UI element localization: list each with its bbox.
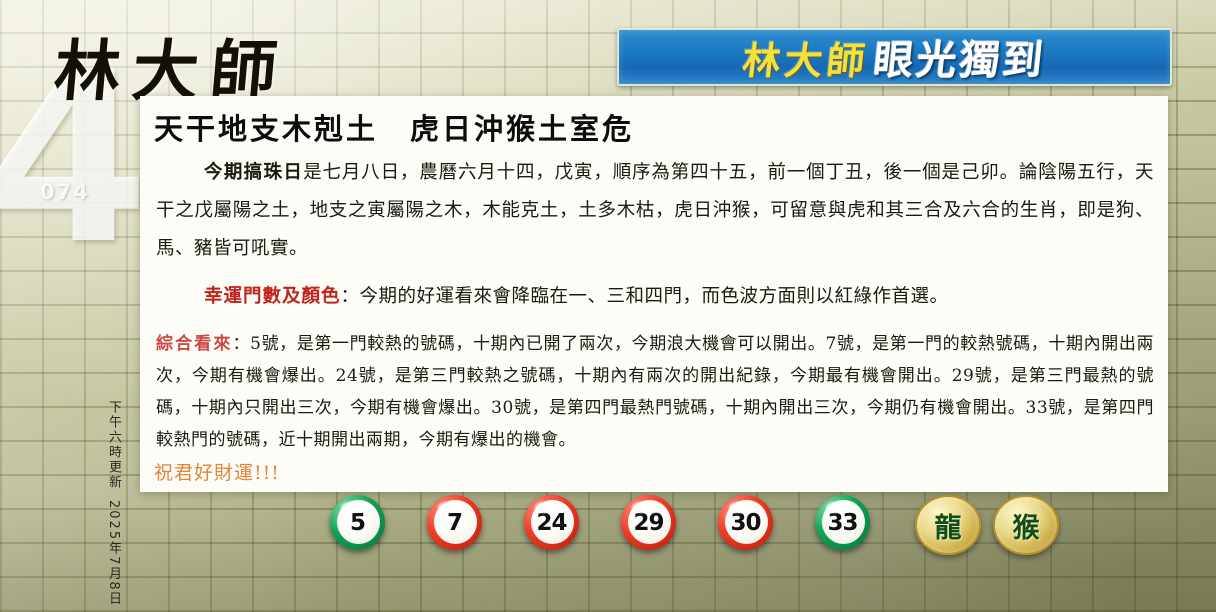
ball-number: 33 [827,510,857,536]
banner-text-yellow: 林大師 [741,30,873,85]
lucky-gates-heading: 幸運門數及顏色 [204,286,341,307]
summary-body: 5號，是第一門較熱的號碼，十期內已開了兩次，今期浪大機會可以開出。7號，是第一門… [156,334,1154,450]
lottery-ball[interactable]: 30 [718,495,773,550]
banner-text-white: 眼光獨到 [870,28,1048,86]
summary-heading: 綜合看來 [156,334,233,354]
headline-banner: 林大師 眼光獨到 [617,28,1172,86]
paragraph1-lead: 今期搞珠日 [204,162,303,183]
lottery-ball[interactable]: 5 [330,495,385,550]
ball-number: 29 [633,510,663,536]
summary-separator: ： [233,334,251,354]
ball-number: 5 [350,510,365,536]
article-card: 天干地支木剋土 虎日沖猴土室危 今期搞珠日是七月八日，農曆六月十四，戊寅，順序為… [140,96,1168,492]
page-title: 天干地支木剋土 虎日沖猴土室危 [154,106,1168,148]
lottery-ball[interactable]: 24 [524,495,579,550]
zodiac-medallion[interactable]: 猴 [993,495,1059,555]
paragraph-lucky-gates: 幸運門數及顏色：今期的好運看來會降臨在一、三和四門，而色波方面則以紅綠作首選。 [156,278,1154,316]
side-update-time: 下午六時更新 [104,400,123,490]
zodiac-label: 龍 [935,506,962,545]
paragraph-summary: 綜合看來：5號，是第一門較熱的號碼，十期內已開了兩次，今期浪大機會可以開出。7號… [156,328,1154,456]
lottery-ball-row: 5 7 24 29 30 33 [330,495,870,550]
ball-number: 24 [536,510,566,536]
lucky-gates-body: 今期的好運看來會降臨在一、三和四門，而色波方面則以紅綠作首選。 [360,286,949,307]
ball-number: 30 [730,510,760,536]
paragraph1-body: 是七月八日，農曆六月十四，戊寅，順序為第四十五，前一個丁丑，後一個是己卯。論陰陽… [156,162,1154,259]
watermark-issue-number: 074 [40,180,90,204]
lottery-ball[interactable]: 7 [427,495,482,550]
zodiac-medallion[interactable]: 龍 [915,495,981,555]
lottery-ball[interactable]: 33 [815,495,870,550]
lottery-ball[interactable]: 29 [621,495,676,550]
lucky-gates-separator: ： [341,286,360,307]
ball-number: 7 [447,510,462,536]
signature-blessing: 祝君好財運!!! [154,458,1168,485]
paragraph-almanac: 今期搞珠日是七月八日，農曆六月十四，戊寅，順序為第四十五，前一個丁丑，後一個是己… [156,154,1154,268]
zodiac-label: 猴 [1013,506,1040,545]
zodiac-medallion-row: 龍 猴 [915,495,1059,555]
side-date: 2025年7月8日 [104,500,123,607]
